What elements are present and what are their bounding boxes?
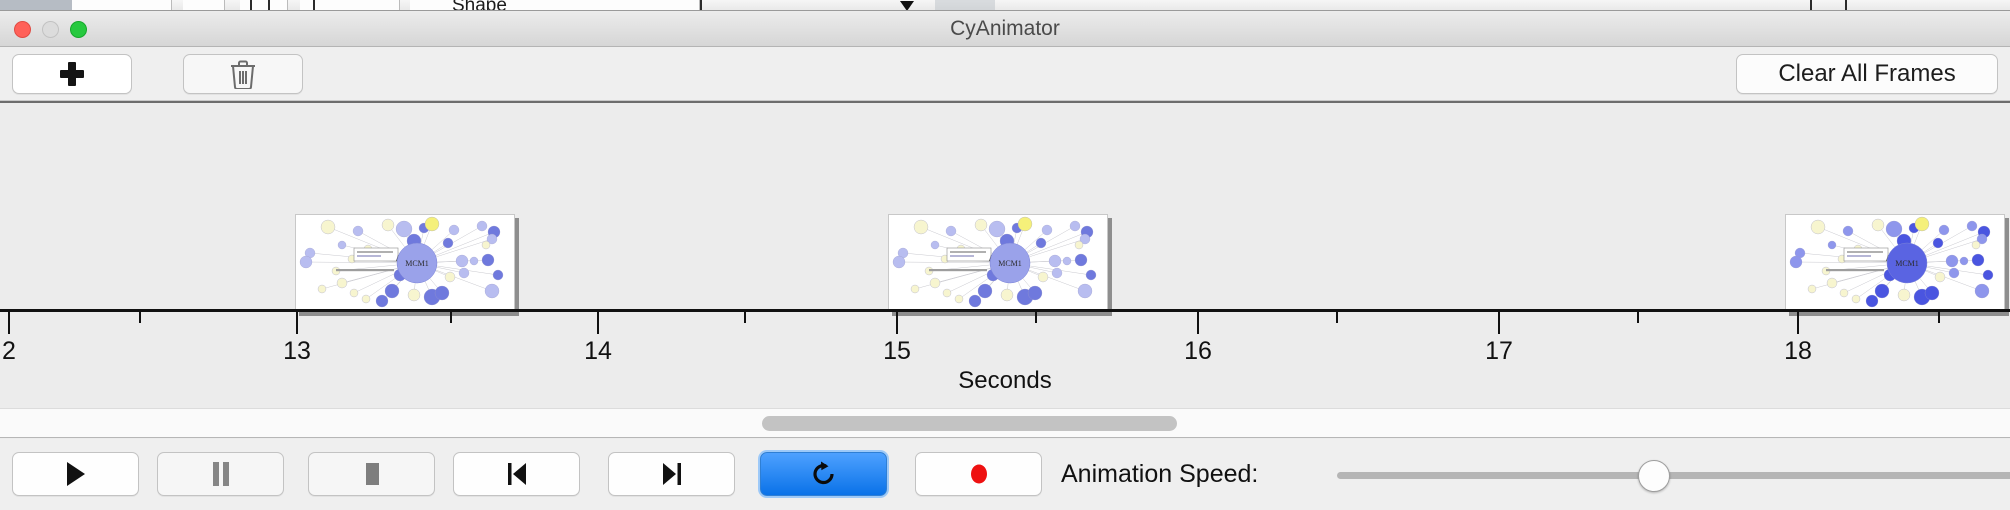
frame-thumbnail-2[interactable]: MCM1 bbox=[888, 214, 1108, 312]
ruler-tick-label: 15 bbox=[883, 337, 911, 366]
record-button[interactable] bbox=[915, 452, 1042, 496]
network-graph-thumbnail: MCM1 bbox=[296, 215, 515, 312]
frame-thumbnail-1[interactable]: MCM1 bbox=[295, 214, 515, 312]
clear-all-frames-label: Clear All Frames bbox=[1778, 60, 1955, 88]
play-button[interactable] bbox=[12, 452, 139, 496]
ruler-tick-label: 16 bbox=[1184, 337, 1212, 366]
ruler-tick-label: 18 bbox=[1784, 337, 1812, 366]
ruler-tick bbox=[139, 312, 141, 323]
ruler-baseline bbox=[0, 309, 2010, 312]
frame-toolbar: Clear All Frames bbox=[0, 47, 2010, 101]
window-title: CyAnimator bbox=[0, 11, 2010, 47]
skip-to-end-button[interactable] bbox=[608, 452, 735, 496]
ruler-tick bbox=[1797, 312, 1799, 334]
ruler-tick-label: 13 bbox=[283, 337, 311, 366]
clear-all-frames-button[interactable]: Clear All Frames bbox=[1736, 54, 1998, 94]
timeline-scrollbar-thumb[interactable] bbox=[762, 416, 1177, 431]
background-window-strip: Shape bbox=[0, 0, 2010, 11]
timeline-panel[interactable]: MCM1MCM1MCM1 2131415161718 Seconds bbox=[0, 101, 2010, 408]
ruler-tick bbox=[744, 312, 746, 323]
skip-to-start-button[interactable] bbox=[453, 452, 580, 496]
play-icon bbox=[63, 460, 89, 488]
delete-frame-button[interactable] bbox=[183, 54, 303, 94]
ruler-tick bbox=[450, 312, 452, 323]
loop-icon bbox=[810, 459, 838, 489]
loop-button[interactable] bbox=[760, 452, 887, 496]
network-graph-thumbnail: MCM1 bbox=[889, 215, 1108, 312]
timeline-axis-title: Seconds bbox=[0, 367, 2010, 395]
frame-thumbnail-3[interactable]: MCM1 bbox=[1785, 214, 2005, 312]
skip-back-icon bbox=[504, 460, 530, 488]
pause-button[interactable] bbox=[157, 452, 284, 496]
ruler-tick bbox=[1035, 312, 1037, 323]
playback-toolbar: Animation Speed: bbox=[0, 439, 2010, 510]
ruler-tick bbox=[597, 312, 599, 334]
ruler-tick bbox=[296, 312, 298, 334]
background-window-label: Shape bbox=[452, 0, 507, 11]
animation-speed-label: Animation Speed: bbox=[1061, 452, 1258, 496]
ruler-tick bbox=[1498, 312, 1500, 334]
stop-icon bbox=[360, 460, 384, 488]
title-bar: CyAnimator bbox=[0, 11, 2010, 47]
ruler-tick bbox=[1197, 312, 1199, 334]
add-frame-button[interactable] bbox=[12, 54, 132, 94]
pause-icon bbox=[209, 460, 233, 488]
plus-icon bbox=[59, 61, 85, 87]
ruler-tick bbox=[8, 312, 10, 334]
timeline-ruler: 2131415161718 bbox=[0, 309, 2010, 365]
ruler-tick-label: 17 bbox=[1485, 337, 1513, 366]
trash-icon bbox=[229, 59, 257, 89]
cyanimator-window: Shape CyAnimator Clear All Frames MC bbox=[0, 0, 2010, 510]
frames-track[interactable]: MCM1MCM1MCM1 bbox=[0, 103, 2010, 309]
network-graph-thumbnail: MCM1 bbox=[1786, 215, 2005, 312]
ruler-tick bbox=[1637, 312, 1639, 323]
ruler-tick bbox=[896, 312, 898, 334]
hub-node-label: MCM1 bbox=[998, 259, 1022, 268]
hub-node-label: MCM1 bbox=[405, 259, 429, 268]
animation-speed-slider-knob[interactable] bbox=[1638, 460, 1670, 492]
animation-speed-slider-track[interactable] bbox=[1337, 472, 2010, 479]
record-icon bbox=[966, 460, 992, 488]
ruler-tick bbox=[1336, 312, 1338, 323]
ruler-tick-label: 2 bbox=[2, 337, 16, 366]
ruler-tick bbox=[1938, 312, 1940, 323]
skip-forward-icon bbox=[659, 460, 685, 488]
timeline-scrollbar[interactable] bbox=[0, 408, 2010, 438]
stop-button[interactable] bbox=[308, 452, 435, 496]
hub-node-label: MCM1 bbox=[1895, 259, 1919, 268]
ruler-tick-label: 14 bbox=[584, 337, 612, 366]
